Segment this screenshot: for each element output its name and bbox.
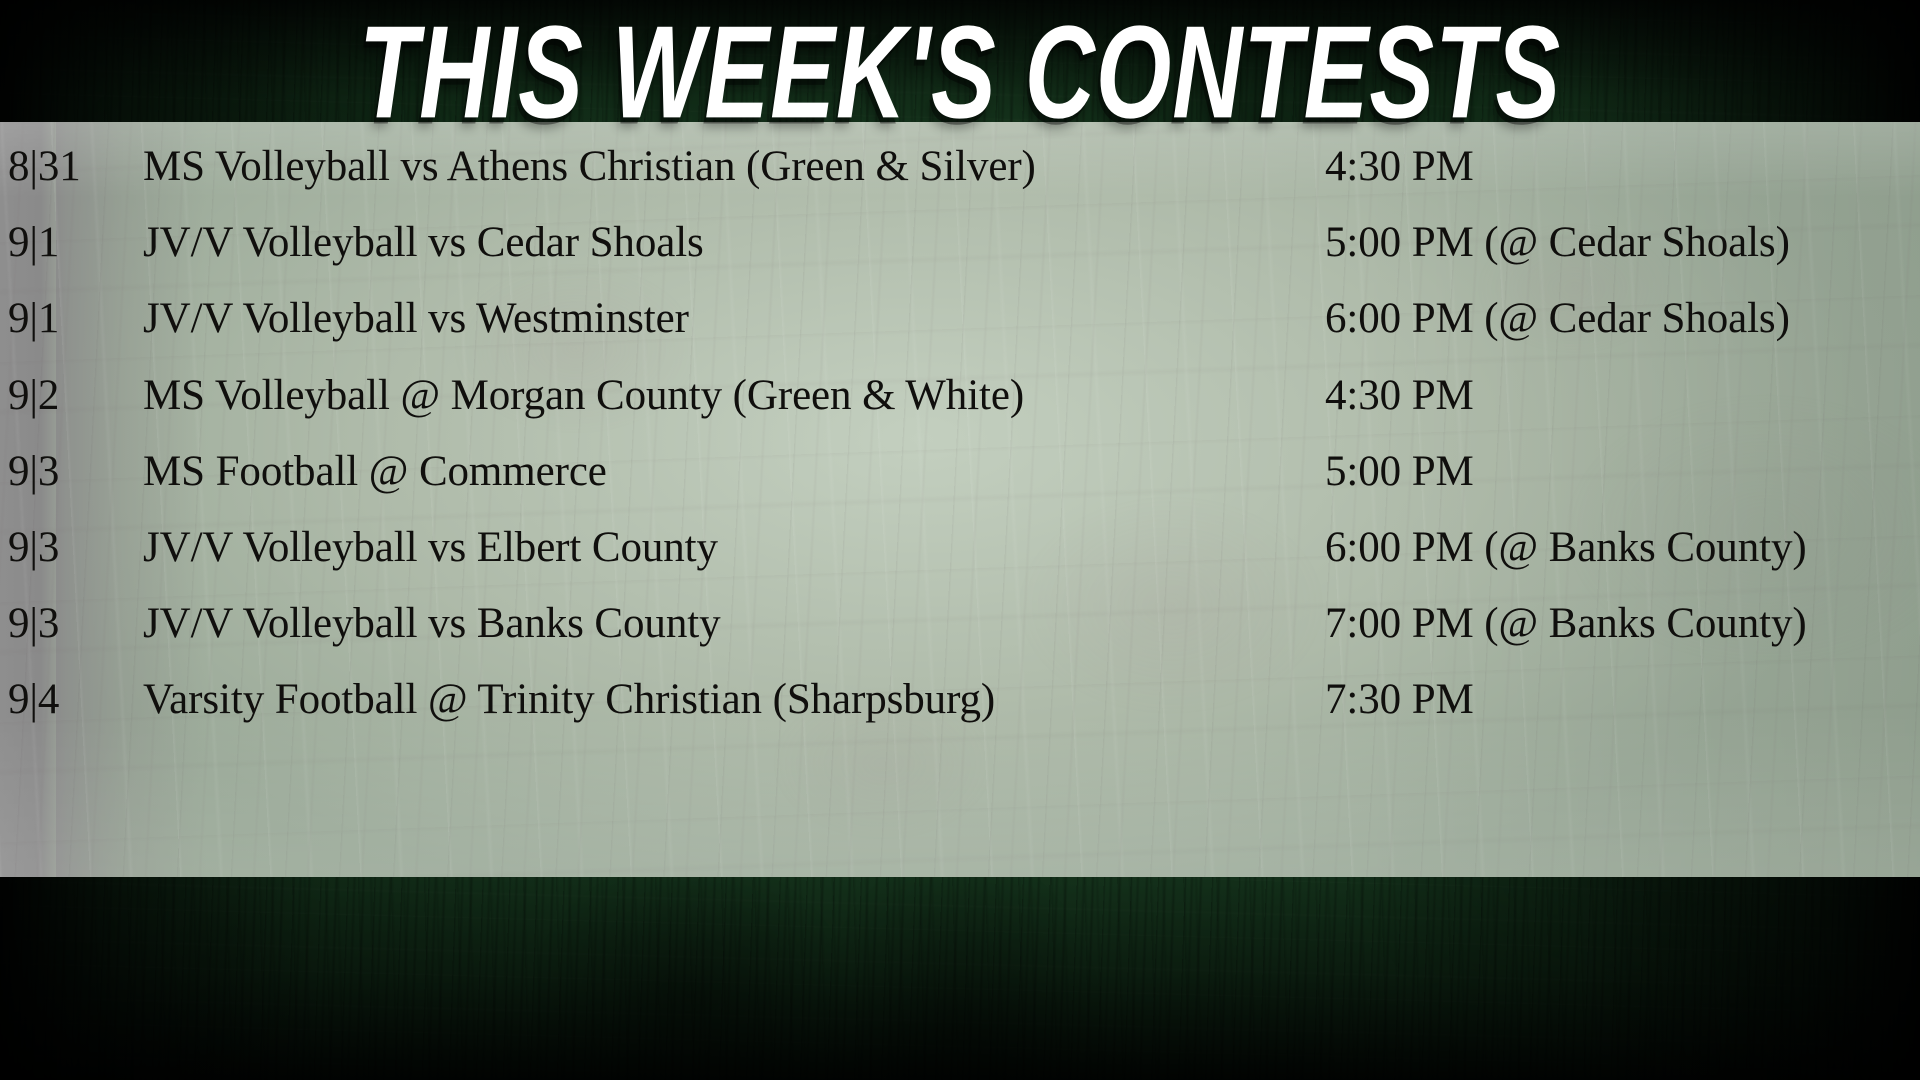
row-event: JV/V Volleyball vs Westminster bbox=[143, 281, 689, 357]
row-date: 8|31 bbox=[8, 129, 138, 205]
row-time: 5:00 PM (@ Cedar Shoals) bbox=[1325, 205, 1790, 281]
row-event: JV/V Volleyball vs Elbert County bbox=[143, 510, 718, 586]
table-row: 8|31MS Volleyball vs Athens Christian (G… bbox=[0, 129, 1920, 205]
row-event: MS Volleyball @ Morgan County (Green & W… bbox=[143, 358, 1024, 434]
schedule-graphic: 8|31MS Volleyball vs Athens Christian (G… bbox=[0, 0, 1920, 1080]
table-row: 9|3JV/V Volleyball vs Elbert County6:00 … bbox=[0, 510, 1920, 586]
row-time: 6:00 PM (@ Banks County) bbox=[1325, 510, 1807, 586]
row-time: 6:00 PM (@ Cedar Shoals) bbox=[1325, 281, 1790, 357]
row-event: MS Football @ Commerce bbox=[143, 434, 607, 510]
row-time: 7:00 PM (@ Banks County) bbox=[1325, 586, 1807, 662]
table-row: 9|2MS Volleyball @ Morgan County (Green … bbox=[0, 358, 1920, 434]
row-time: 5:00 PM bbox=[1325, 434, 1474, 510]
row-event: Varsity Football @ Trinity Christian (Sh… bbox=[143, 662, 995, 738]
table-row: 9|1JV/V Volleyball vs Cedar Shoals5:00 P… bbox=[0, 205, 1920, 281]
row-date: 9|4 bbox=[8, 662, 138, 738]
row-date: 9|3 bbox=[8, 510, 138, 586]
row-time: 7:30 PM bbox=[1325, 662, 1474, 738]
row-event: JV/V Volleyball vs Cedar Shoals bbox=[143, 205, 704, 281]
row-date: 9|1 bbox=[8, 205, 138, 281]
table-row: 9|3JV/V Volleyball vs Banks County7:00 P… bbox=[0, 586, 1920, 662]
row-date: 9|3 bbox=[8, 586, 138, 662]
table-row: 9|4Varsity Football @ Trinity Christian … bbox=[0, 662, 1920, 738]
schedule-panel: 8|31MS Volleyball vs Athens Christian (G… bbox=[0, 122, 1920, 877]
row-time: 4:30 PM bbox=[1325, 129, 1474, 205]
row-event: MS Volleyball vs Athens Christian (Green… bbox=[143, 129, 1036, 205]
row-date: 9|2 bbox=[8, 358, 138, 434]
table-row: 9|1JV/V Volleyball vs Westminster6:00 PM… bbox=[0, 281, 1920, 357]
schedule-rows: 8|31MS Volleyball vs Athens Christian (G… bbox=[0, 122, 1920, 877]
row-date: 9|1 bbox=[8, 281, 138, 357]
row-time: 4:30 PM bbox=[1325, 358, 1474, 434]
row-event: JV/V Volleyball vs Banks County bbox=[143, 586, 720, 662]
row-date: 9|3 bbox=[8, 434, 138, 510]
table-row: 9|3MS Football @ Commerce5:00 PM bbox=[0, 434, 1920, 510]
